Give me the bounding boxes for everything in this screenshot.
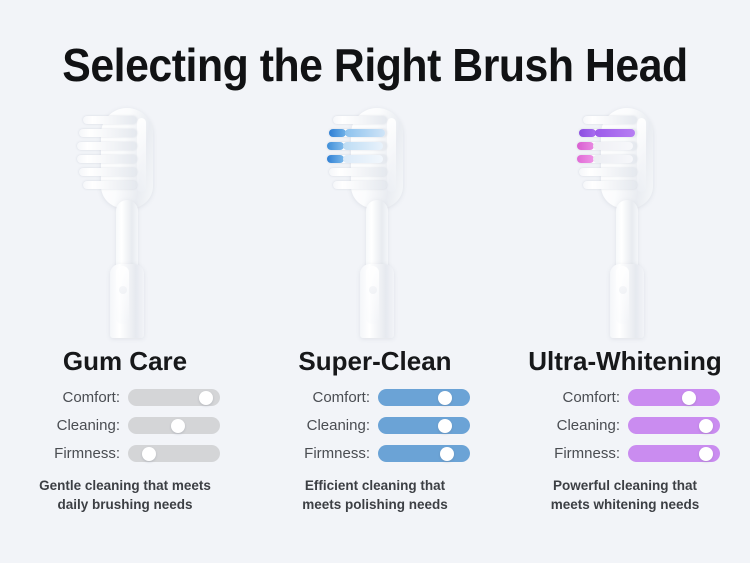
page-title: Selecting the Right Brush Head (26, 38, 724, 92)
caption-line: Powerful cleaning that (525, 476, 725, 495)
slider-comfort[interactable] (628, 389, 720, 406)
bristle-row (79, 168, 137, 176)
attribute-list-ultra-whitening: Comfort: Cleaning: Firmness: (530, 389, 720, 462)
brush-neck (116, 200, 138, 274)
caption-line: meets polishing needs (275, 495, 475, 514)
product-name-ultra-whitening: Ultra-Whitening (528, 346, 722, 377)
bristles-group (327, 116, 389, 200)
brush-body (610, 264, 644, 338)
attribute-list-gum-care: Comfort: Cleaning: Firmness: (30, 389, 220, 462)
attribute-row-firmness: Firmness: (30, 445, 220, 462)
brush-card-ultra-whitening[interactable]: Ultra-Whitening Comfort: Cleaning: Firmn… (500, 104, 750, 514)
brush-head-comparison: Gum Care Comfort: Cleaning: Firmness: (0, 104, 750, 514)
brush-neck (366, 200, 388, 274)
attribute-label-cleaning: Cleaning: (280, 417, 378, 434)
attribute-row-comfort: Comfort: (280, 389, 470, 406)
attribute-row-cleaning: Cleaning: (30, 417, 220, 434)
attribute-label-comfort: Comfort: (280, 389, 378, 406)
caption-line: daily brushing needs (25, 495, 225, 514)
slider-knob[interactable] (171, 419, 185, 433)
slider-knob[interactable] (142, 447, 156, 461)
caption-super-clean: Efficient cleaning that meets polishing … (275, 476, 475, 514)
attribute-label-cleaning: Cleaning: (30, 417, 128, 434)
brush-head-purple-icon (565, 104, 685, 336)
brush-card-gum-care[interactable]: Gum Care Comfort: Cleaning: Firmness: (0, 104, 250, 514)
bristle-row (583, 181, 637, 189)
attribute-label-comfort: Comfort: (30, 389, 128, 406)
attribute-row-firmness: Firmness: (530, 445, 720, 462)
bristle-row (329, 168, 387, 176)
attribute-label-firmness: Firmness: (30, 445, 128, 462)
bristle-row (83, 116, 137, 124)
bristle-row (329, 129, 387, 137)
bristle-row (79, 129, 137, 137)
slider-cleaning[interactable] (628, 417, 720, 434)
attribute-label-cleaning: Cleaning: (530, 417, 628, 434)
bristle-row (327, 155, 387, 163)
slider-knob[interactable] (699, 419, 713, 433)
bristle-row (77, 155, 137, 163)
attribute-list-super-clean: Comfort: Cleaning: Firmness: (280, 389, 470, 462)
slider-cleaning[interactable] (378, 417, 470, 434)
caption-gum-care: Gentle cleaning that meets daily brushin… (25, 476, 225, 514)
caption-line: Efficient cleaning that (275, 476, 475, 495)
attribute-row-firmness: Firmness: (280, 445, 470, 462)
attribute-row-comfort: Comfort: (30, 389, 220, 406)
slider-firmness[interactable] (128, 445, 220, 462)
slider-knob[interactable] (438, 419, 452, 433)
bristle-row (579, 129, 637, 137)
attribute-label-firmness: Firmness: (280, 445, 378, 462)
bristle-row (333, 181, 387, 189)
product-name-gum-care: Gum Care (63, 346, 187, 377)
attribute-row-comfort: Comfort: (530, 389, 720, 406)
bristles-group (577, 116, 639, 200)
brush-head-white-icon (65, 104, 185, 336)
bristles-group (77, 116, 139, 200)
slider-cleaning[interactable] (128, 417, 220, 434)
bristle-row (327, 142, 387, 150)
brush-body (360, 264, 394, 338)
slider-firmness[interactable] (378, 445, 470, 462)
bristle-row (579, 168, 637, 176)
slider-comfort[interactable] (378, 389, 470, 406)
slider-knob[interactable] (682, 391, 696, 405)
brush-card-super-clean[interactable]: Super-Clean Comfort: Cleaning: Firmness: (250, 104, 500, 514)
bristle-row (583, 116, 637, 124)
caption-line: meets whitening needs (525, 495, 725, 514)
brush-body (110, 264, 144, 338)
slider-knob[interactable] (699, 447, 713, 461)
attribute-row-cleaning: Cleaning: (280, 417, 470, 434)
slider-comfort[interactable] (128, 389, 220, 406)
brush-neck (616, 200, 638, 274)
bristle-row (83, 181, 137, 189)
caption-ultra-whitening: Powerful cleaning that meets whitening n… (525, 476, 725, 514)
attribute-label-firmness: Firmness: (530, 445, 628, 462)
brush-head-blue-icon (315, 104, 435, 336)
bristle-row (77, 142, 137, 150)
slider-knob[interactable] (440, 447, 454, 461)
attribute-row-cleaning: Cleaning: (530, 417, 720, 434)
bristle-row (577, 155, 637, 163)
attribute-label-comfort: Comfort: (530, 389, 628, 406)
slider-knob[interactable] (438, 391, 452, 405)
product-name-super-clean: Super-Clean (298, 346, 451, 377)
bristle-row (577, 142, 637, 150)
slider-knob[interactable] (199, 391, 213, 405)
bristle-row (333, 116, 387, 124)
infographic-page: Selecting the Right Brush Head Gum Care (0, 0, 750, 563)
slider-firmness[interactable] (628, 445, 720, 462)
caption-line: Gentle cleaning that meets (25, 476, 225, 495)
